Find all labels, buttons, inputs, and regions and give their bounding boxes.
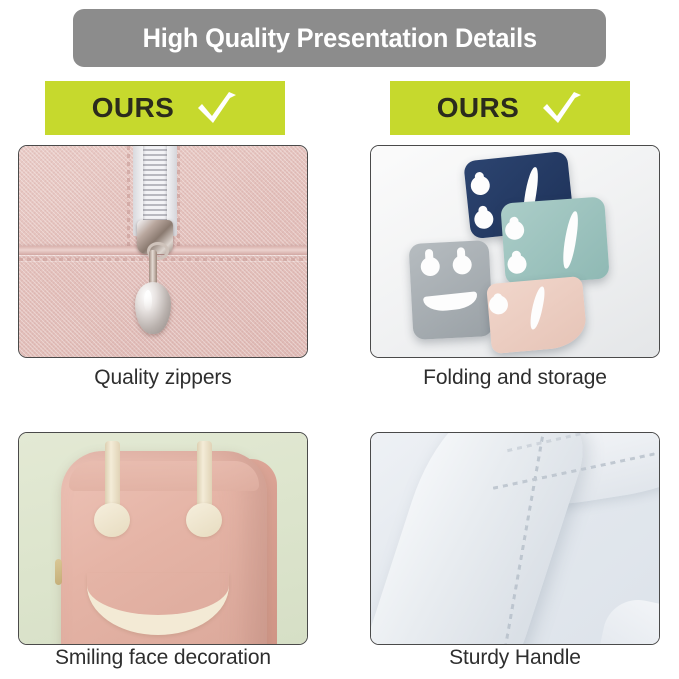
caption-folding-storage: Folding and storage <box>370 366 660 390</box>
ours-badge-left: OURS <box>45 81 285 135</box>
caption-sturdy-handle: Sturdy Handle <box>370 646 660 670</box>
feature-photo-quality-zippers <box>18 145 308 358</box>
header-banner: High Quality Presentation Details <box>73 9 606 67</box>
page-title: High Quality Presentation Details <box>142 23 536 54</box>
ours-badge-right: OURS <box>390 81 630 135</box>
fabric-seam <box>127 146 130 252</box>
fabric-seam <box>177 146 180 252</box>
smiley-mouth <box>561 210 580 269</box>
smiley-eye <box>512 250 522 267</box>
smiley-eye <box>186 503 222 537</box>
folded-bag-sage <box>500 196 609 285</box>
folded-bag-pink <box>486 276 588 354</box>
pink-bag-zipper-image <box>19 146 307 357</box>
smiley-eye <box>94 503 130 537</box>
smiley-eye <box>509 217 519 234</box>
folded-bag-gray <box>409 240 494 340</box>
ours-label: OURS <box>437 92 520 124</box>
product-detail-page: High Quality Presentation Details OURS O… <box>0 0 679 679</box>
smiley-face <box>409 240 494 340</box>
smiley-eye <box>493 293 503 308</box>
pink-bag-smiley-image <box>19 433 307 644</box>
feature-photo-smiling-face <box>18 432 308 645</box>
bag-zipper-tab <box>55 559 62 585</box>
smiley-eye <box>457 247 466 267</box>
ours-label: OURS <box>92 92 175 124</box>
bag-corner <box>596 593 659 644</box>
smiley-face <box>486 276 588 354</box>
smiley-face <box>500 196 609 285</box>
feature-photo-sturdy-handle <box>370 432 660 645</box>
folded-bags-image <box>371 146 659 357</box>
handle-closeup-image <box>371 433 659 644</box>
caption-smiling-face: Smiling face decoration <box>18 646 308 670</box>
smiley-mouth <box>423 291 478 313</box>
zipper-pull-charm <box>135 282 171 334</box>
smiley-eye <box>478 205 489 222</box>
check-icon <box>541 91 583 125</box>
zipper-slider <box>137 220 173 254</box>
smiley-eye <box>474 172 485 189</box>
handle-strap <box>371 433 592 644</box>
bag-top-flap <box>69 461 259 491</box>
smiley-eye <box>425 249 434 269</box>
feature-photo-folding-storage <box>370 145 660 358</box>
check-icon <box>196 91 238 125</box>
smiley-mouth <box>528 285 546 330</box>
caption-quality-zippers: Quality zippers <box>18 366 308 390</box>
